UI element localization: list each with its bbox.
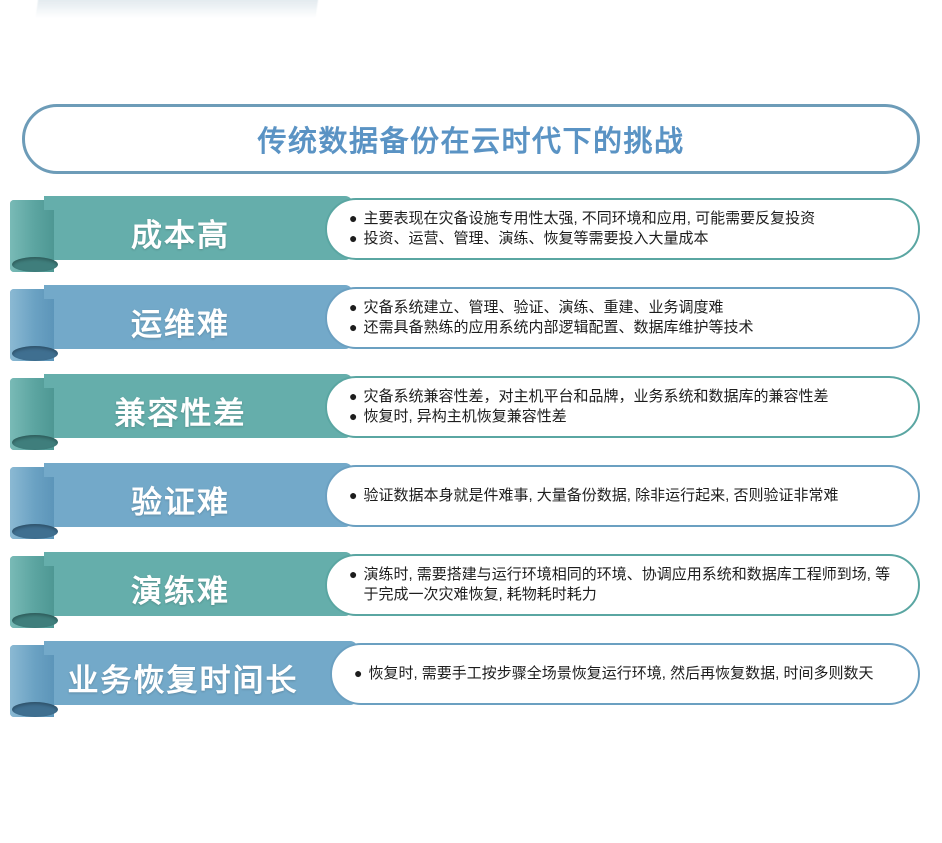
challenge-detail-box: ●恢复时, 需要手工按步骤全场景恢复运行环境, 然后再恢复数据, 时间多则数天 xyxy=(330,643,920,705)
challenge-row: 演练难●演练时, 需要搭建与运行环境相同的环境、协调应用系统和数据库工程师到场,… xyxy=(0,552,942,636)
challenge-detail-box: ●演练时, 需要搭建与运行环境相同的环境、协调应用系统和数据库工程师到场, 等于… xyxy=(325,554,920,616)
bullet-text: 投资、运营、管理、演练、恢复等需要投入大量成本 xyxy=(363,229,708,249)
bullet-dot-icon: ● xyxy=(349,209,357,228)
bullet-dot-icon: ● xyxy=(349,387,357,406)
page-title: 传统数据备份在云时代下的挑战 xyxy=(257,118,684,160)
challenge-label: 兼容性差 xyxy=(115,378,247,442)
bullet-text: 演练时, 需要搭建与运行环境相同的环境、协调应用系统和数据库工程师到场, 等于完… xyxy=(363,565,892,606)
bullet-dot-icon: ● xyxy=(349,565,357,584)
challenge-detail-box: ●灾备系统兼容性差，对主机平台和品牌，业务系统和数据库的兼容性差●恢复时, 异构… xyxy=(325,376,920,438)
bullet-dot-icon: ● xyxy=(354,664,362,683)
decorative-top-band xyxy=(35,0,320,18)
ribbon-curl-ellipse xyxy=(12,435,58,450)
bullet-text: 验证数据本身就是件难事, 大量备份数据, 除非运行起来, 否则验证非常难 xyxy=(363,486,838,506)
challenge-detail-box: ●主要表现在灾备设施专用性太强, 不同环境和应用, 可能需要反复投资●投资、运营… xyxy=(325,198,920,260)
bullet-text: 还需具备熟练的应用系统内部逻辑配置、数据库维护等技术 xyxy=(363,318,753,338)
bullet-item: ●灾备系统兼容性差，对主机平台和品牌，业务系统和数据库的兼容性差 xyxy=(349,387,892,407)
bullet-dot-icon: ● xyxy=(349,486,357,505)
ribbon-curl-ellipse xyxy=(12,346,58,361)
bullet-item: ●投资、运营、管理、演练、恢复等需要投入大量成本 xyxy=(349,229,892,249)
challenge-row: 兼容性差●灾备系统兼容性差，对主机平台和品牌，业务系统和数据库的兼容性差●恢复时… xyxy=(0,374,942,458)
challenge-label: 成本高 xyxy=(131,200,230,264)
bullet-text: 恢复时, 需要手工按步骤全场景恢复运行环境, 然后再恢复数据, 时间多则数天 xyxy=(368,664,873,684)
bullet-item: ●恢复时, 异构主机恢复兼容性差 xyxy=(349,407,892,427)
challenge-row: 运维难●灾备系统建立、管理、验证、演练、重建、业务调度难●还需具备熟练的应用系统… xyxy=(0,285,942,369)
bullet-dot-icon: ● xyxy=(349,298,357,317)
bullet-text: 恢复时, 异构主机恢复兼容性差 xyxy=(363,407,566,427)
page-title-pill: 传统数据备份在云时代下的挑战 xyxy=(22,104,920,174)
ribbon-curl-ellipse xyxy=(12,702,58,717)
bullet-item: ●还需具备熟练的应用系统内部逻辑配置、数据库维护等技术 xyxy=(349,318,892,338)
challenge-row: 业务恢复时间长●恢复时, 需要手工按步骤全场景恢复运行环境, 然后再恢复数据, … xyxy=(0,641,942,725)
bullet-text: 主要表现在灾备设施专用性太强, 不同环境和应用, 可能需要反复投资 xyxy=(363,209,815,229)
ribbon-curl-ellipse xyxy=(12,257,58,272)
bullet-dot-icon: ● xyxy=(349,318,357,337)
challenge-label: 运维难 xyxy=(131,289,230,353)
bullet-text: 灾备系统建立、管理、验证、演练、重建、业务调度难 xyxy=(363,298,723,318)
challenge-detail-box: ●灾备系统建立、管理、验证、演练、重建、业务调度难●还需具备熟练的应用系统内部逻… xyxy=(325,287,920,349)
challenge-detail-box: ●验证数据本身就是件难事, 大量备份数据, 除非运行起来, 否则验证非常难 xyxy=(325,465,920,527)
bullet-item: ●演练时, 需要搭建与运行环境相同的环境、协调应用系统和数据库工程师到场, 等于… xyxy=(349,565,892,606)
challenge-label: 验证难 xyxy=(131,467,230,531)
bullet-item: ●验证数据本身就是件难事, 大量备份数据, 除非运行起来, 否则验证非常难 xyxy=(349,486,892,506)
challenge-row: 验证难●验证数据本身就是件难事, 大量备份数据, 除非运行起来, 否则验证非常难 xyxy=(0,463,942,547)
bullet-item: ●灾备系统建立、管理、验证、演练、重建、业务调度难 xyxy=(349,298,892,318)
bullet-text: 灾备系统兼容性差，对主机平台和品牌，业务系统和数据库的兼容性差 xyxy=(363,387,828,407)
ribbon-curl-ellipse xyxy=(12,524,58,539)
bullet-dot-icon: ● xyxy=(349,407,357,426)
challenge-row: 成本高●主要表现在灾备设施专用性太强, 不同环境和应用, 可能需要反复投资●投资… xyxy=(0,196,942,280)
bullet-dot-icon: ● xyxy=(349,229,357,248)
bullet-item: ●恢复时, 需要手工按步骤全场景恢复运行环境, 然后再恢复数据, 时间多则数天 xyxy=(354,664,892,684)
ribbon-curl-ellipse xyxy=(12,613,58,628)
challenge-label: 业务恢复时间长 xyxy=(68,645,299,709)
bullet-item: ●主要表现在灾备设施专用性太强, 不同环境和应用, 可能需要反复投资 xyxy=(349,209,892,229)
challenge-label: 演练难 xyxy=(131,556,230,620)
